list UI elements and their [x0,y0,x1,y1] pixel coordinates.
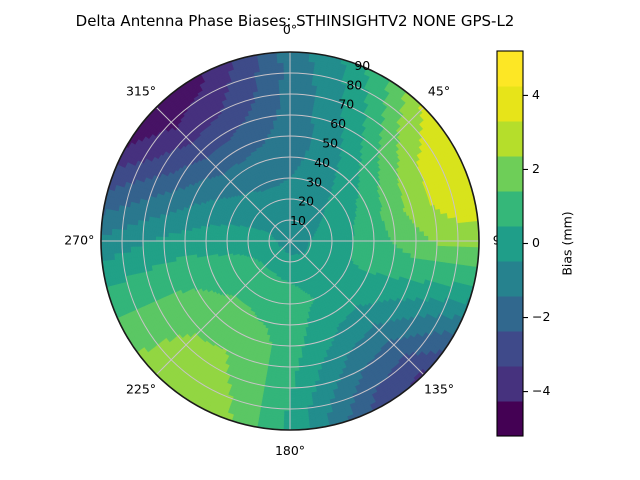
colorbar-tick-label-4: 4 [532,87,540,102]
colorbar-band-9 [497,86,523,122]
colorbar-band-3 [497,296,523,332]
polar-contour-figure: Delta Antenna Phase Biases: STHINSIGHTV2… [0,0,640,480]
colorbar-band-7 [497,156,523,192]
colorbar-band-6 [497,191,523,227]
colorbar-band-5 [497,226,523,262]
colorbar-tick-label-2: 0 [532,235,540,250]
colorbar-tick-label-3: 2 [532,161,540,176]
theta-tick-label-225: 225° [126,382,156,397]
polar-gridlines [101,52,479,430]
colorbar-band-4 [497,261,523,297]
colorbar-band-2 [497,331,523,367]
theta-tick-label-315: 315° [126,84,156,99]
colorbar-band-0 [497,401,523,437]
colorbar-band-10 [497,51,523,87]
r-tick-label-60: 60 [330,116,346,131]
theta-tick-label-270: 270° [64,233,94,248]
colorbar-tick-label-1: −2 [532,309,550,324]
r-tick-label-80: 80 [346,77,362,92]
r-tick-label-90: 90 [354,58,370,73]
r-tick-label-40: 40 [314,155,330,170]
theta-tick-label-0: 0° [283,22,297,37]
r-tick-label-10: 10 [290,213,306,228]
theta-tick-label-45: 45° [428,84,450,99]
r-tick-label-20: 20 [298,194,314,209]
colorbar-tick-label-0: −4 [532,383,550,398]
theta-tick-label-180: 180° [275,443,305,458]
colorbar-axis-label: Bias (mm) [560,211,575,275]
r-tick-label-50: 50 [322,136,338,151]
r-tick-label-30: 30 [306,174,322,189]
polar-plot-area: 0°45°90135°180°225°270°315°1020304050607… [64,22,508,458]
colorbar-band-1 [497,366,523,402]
colorbar-band-8 [497,121,523,157]
theta-tick-label-135: 135° [424,382,454,397]
r-tick-label-70: 70 [338,97,354,112]
